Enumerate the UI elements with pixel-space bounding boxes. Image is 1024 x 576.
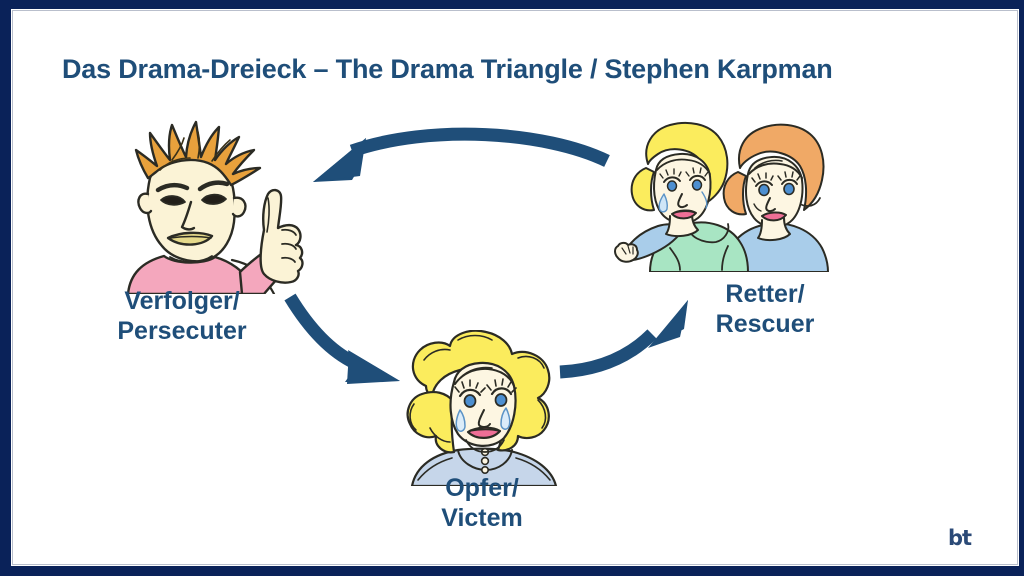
slide-canvas: Das Drama-Dreieck – The Drama Triangle /… [0, 0, 1024, 576]
label-persecuter-line1: Verfolger/ [98, 287, 266, 317]
border-left [0, 0, 11, 576]
arrow-victim-to-rescuer [560, 300, 688, 372]
label-victim-line2: Victem [398, 504, 566, 534]
brand-logo: bt [948, 526, 971, 550]
illustration-persecuter [112, 112, 322, 294]
arrow-rescuer-to-persecuter [313, 134, 607, 182]
border-top [0, 0, 1024, 9]
label-rescuer-line2: Rescuer [690, 310, 840, 340]
border-bottom [0, 566, 1024, 576]
label-victim-line1: Opfer/ [398, 474, 566, 504]
illustration-rescuer [612, 120, 840, 272]
border-right [1019, 0, 1024, 576]
page-title: Das Drama-Dreieck – The Drama Triangle /… [62, 54, 833, 85]
label-persecuter-line2: Persecuter [98, 317, 266, 347]
label-victim: Opfer/ Victem [398, 474, 566, 533]
illustration-victim [400, 330, 572, 486]
arrow-persecuter-to-victim [290, 297, 400, 384]
label-rescuer-line1: Retter/ [690, 280, 840, 310]
label-persecuter: Verfolger/ Persecuter [98, 287, 266, 346]
label-rescuer: Retter/ Rescuer [690, 280, 840, 339]
